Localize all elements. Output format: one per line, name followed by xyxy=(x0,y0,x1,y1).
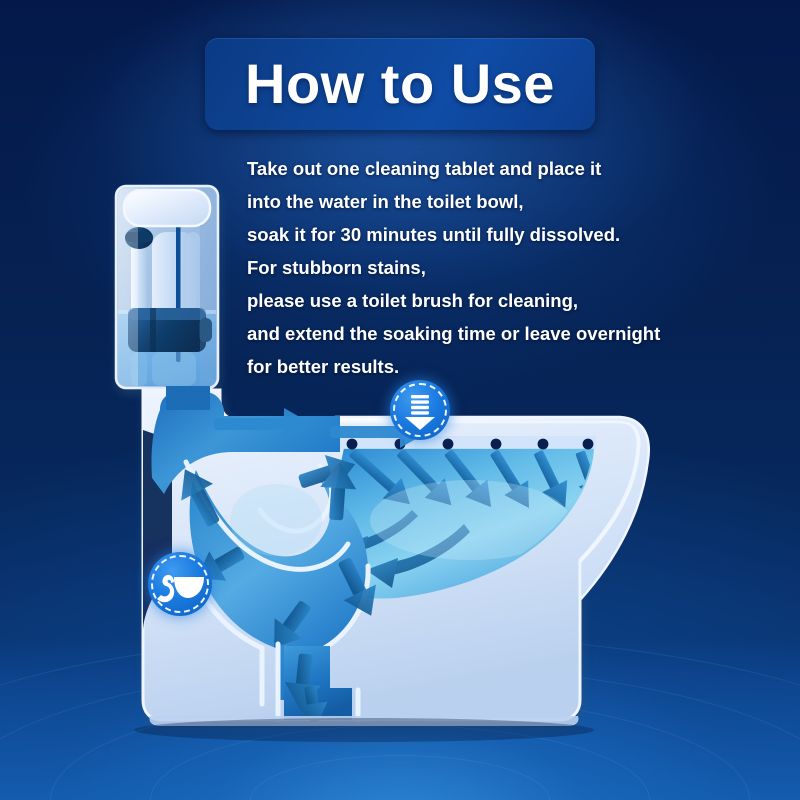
callout-badges xyxy=(0,0,800,800)
badge-trap-flow xyxy=(148,552,212,616)
toilet-trap-icon xyxy=(148,552,212,616)
badge-drop-tablet xyxy=(390,380,450,440)
download-arrow-icon xyxy=(390,380,450,440)
